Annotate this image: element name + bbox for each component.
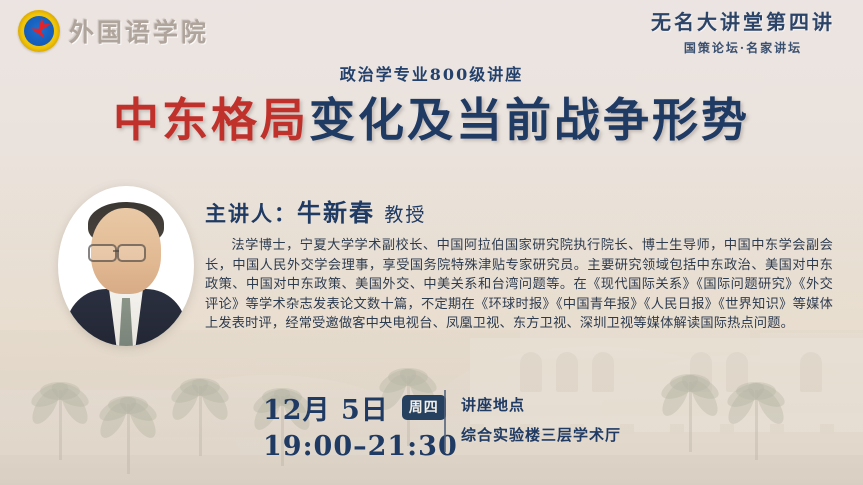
title-highlight: 中东格局: [113, 93, 309, 147]
series-title: 无名大讲堂第四讲: [651, 6, 835, 35]
institution-brand: 外国语学院: [18, 10, 209, 52]
venue-block: 讲座地点 综合实验楼三层学术厅: [461, 394, 621, 445]
speaker-rank: 教授: [384, 204, 426, 226]
speaker-line: 主讲人：牛新春 教授: [205, 193, 426, 228]
speaker-label: 主讲人：: [205, 201, 297, 226]
page-title: 中东格局变化及当前战争形势: [0, 84, 863, 150]
venue-value: 综合实验楼三层学术厅: [461, 424, 621, 445]
series-subtitle: 国策论坛·名家讲坛: [651, 39, 835, 56]
lecture-date: 12月 5日: [263, 388, 389, 427]
speaker-name: 牛新春: [297, 198, 375, 227]
venue-label: 讲座地点: [461, 394, 621, 415]
weekday-badge: 周四: [402, 395, 446, 420]
university-emblem-icon: [18, 10, 60, 52]
speaker-bio: 法学博士，宁夏大学学术副校长、中国阿拉伯国家研究院执行院长、博士生导师，中国中东…: [205, 236, 833, 334]
lecture-series: 无名大讲堂第四讲 国策论坛·名家讲坛: [651, 6, 835, 56]
lecture-time: 19:00–21:30: [263, 431, 458, 462]
institution-name: 外国语学院: [69, 13, 209, 49]
section-divider: [444, 390, 446, 452]
title-rest: 变化及当前战争形势: [309, 93, 750, 147]
kicker-text: 政治学专业800级讲座: [0, 61, 863, 85]
lecture-poster: 外国语学院 无名大讲堂第四讲 国策论坛·名家讲坛 政治学专业800级讲座 中东格…: [0, 0, 863, 485]
schedule-block: 12月 5日 周四 19:00–21:30: [263, 388, 458, 462]
poster-header: 外国语学院 无名大讲堂第四讲 国策论坛·名家讲坛: [0, 0, 863, 58]
speaker-portrait: [58, 186, 194, 346]
